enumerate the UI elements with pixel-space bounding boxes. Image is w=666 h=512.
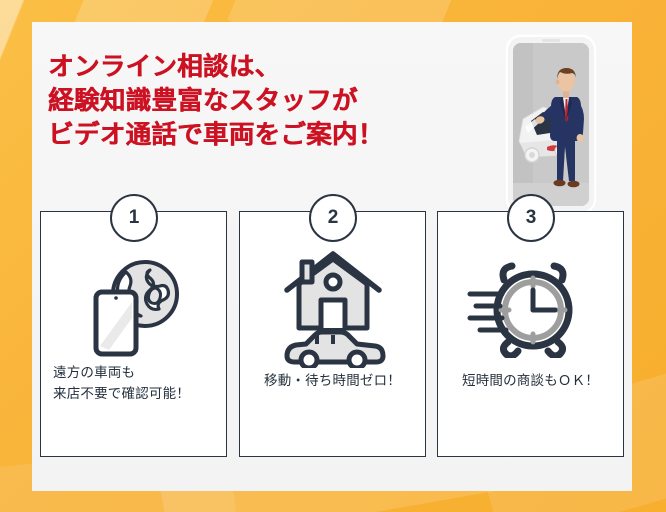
feature-card-2: 移動・待ち時間ゼロ！ bbox=[239, 211, 426, 457]
step-number-3: 3 bbox=[526, 207, 537, 229]
alarm-clock-speed-icon bbox=[438, 258, 623, 358]
feature-card-1-caption: 遠方の車両も 来店不要で確認可能！ bbox=[41, 362, 226, 404]
caption-line-1: 移動・待ち時間ゼロ！ bbox=[240, 370, 425, 391]
caption-line-1: 遠方の車両も bbox=[53, 362, 226, 383]
page-title: オンライン相談は、 経験知識豊富なスタッフが ビデオ通話で車両をご案内！ bbox=[48, 50, 383, 152]
smartphone-mockup bbox=[508, 37, 594, 212]
promo-banner: オンライン相談は、 経験知識豊富なスタッフが ビデオ通話で車両をご案内！ bbox=[0, 0, 666, 512]
step-number-badge-3: 3 bbox=[507, 194, 555, 242]
house-car-icon bbox=[240, 240, 425, 368]
feature-card-1: 遠方の車両も 来店不要で確認可能！ bbox=[40, 211, 227, 457]
phone-notch bbox=[542, 39, 560, 42]
step-number-1: 1 bbox=[129, 207, 140, 229]
caption-line-2: 来店不要で確認可能！ bbox=[53, 383, 226, 404]
smartphone-globe-icon bbox=[41, 250, 226, 362]
feature-card-3-caption: 短時間の商談もＯＫ！ bbox=[438, 370, 623, 391]
feature-card-2-caption: 移動・待ち時間ゼロ！ bbox=[240, 370, 425, 391]
step-number-2: 2 bbox=[328, 207, 339, 229]
sales-staff-car-illustration bbox=[513, 43, 589, 206]
caption-line-1: 短時間の商談もＯＫ！ bbox=[438, 370, 623, 391]
headline-line-3: ビデオ通話で車両をご案内！ bbox=[48, 118, 383, 152]
headline-line-2: 経験知識豊富なスタッフが bbox=[48, 84, 383, 118]
step-number-badge-1: 1 bbox=[110, 194, 158, 242]
step-number-badge-2: 2 bbox=[309, 194, 357, 242]
feature-card-3: 短時間の商談もＯＫ！ bbox=[437, 211, 624, 457]
phone-screen bbox=[513, 43, 589, 206]
headline-line-1: オンライン相談は、 bbox=[48, 50, 383, 84]
